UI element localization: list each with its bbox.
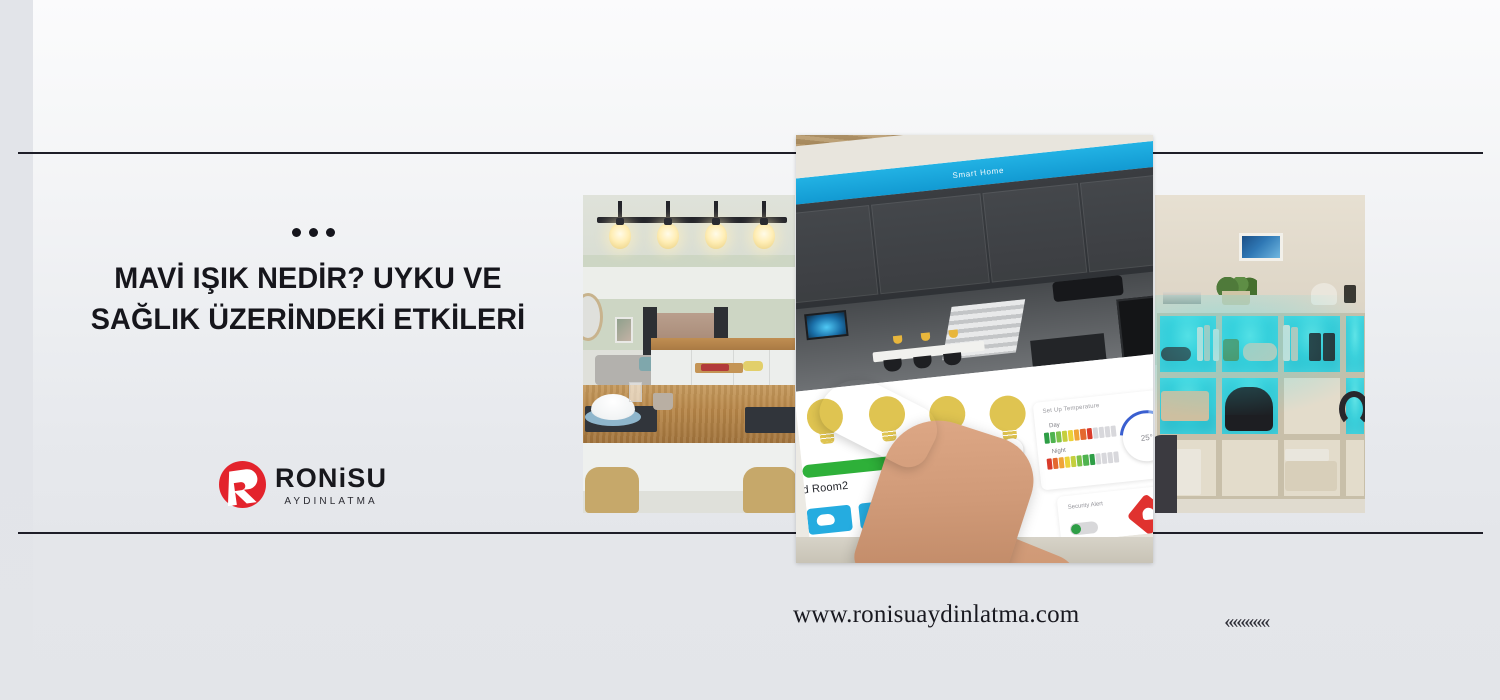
house-illustration: [796, 164, 1153, 392]
poster-canvas: MAVİ IŞIK NEDİR? UYKU VE SAĞLIK ÜZERİNDE…: [0, 0, 1500, 700]
brand-name: RONiSU: [275, 465, 387, 492]
night-label: Night: [1052, 448, 1067, 455]
dot-icon: [292, 228, 301, 237]
security-label: Security Alert: [1067, 500, 1103, 512]
dot-icon: [309, 228, 318, 237]
day-label: Day: [1049, 422, 1060, 429]
chevron-decoration-icon: ‹‹‹‹ ‹‹‹‹ ‹‹‹: [1224, 611, 1268, 632]
photo-smart-home-tablet: Smart Home: [796, 135, 1153, 563]
temperature-dial[interactable]: 25°: [1120, 411, 1153, 464]
left-edge-band: [0, 0, 33, 700]
alarm-bell-icon[interactable]: [1127, 493, 1153, 535]
website-url[interactable]: www.ronisuaydinlatma.com: [793, 601, 1079, 629]
brand-tagline: AYDINLATMA: [275, 497, 387, 507]
temperature-card-title: Set Up Temperature: [1042, 403, 1100, 415]
photo-led-backlit-shelves: [1155, 195, 1365, 513]
security-toggle[interactable]: [1069, 521, 1098, 536]
pointing-hand: [816, 385, 1016, 563]
temperature-card: Set Up Temperature Day Night: [1033, 388, 1153, 491]
dot-icon: [326, 228, 335, 237]
app-title: Smart Home: [952, 165, 1005, 179]
page-title: MAVİ IŞIK NEDİR? UYKU VE SAĞLIK ÜZERİNDE…: [68, 258, 548, 341]
photo-kitchen-pendant-lights: [583, 195, 795, 513]
divider-bottom: [18, 532, 1483, 534]
brand-logo: RONiSU AYDINLATMA: [219, 461, 387, 508]
divider-top: [18, 152, 1483, 154]
eyebrow-dots: [292, 228, 335, 237]
ronisu-mark-icon: [219, 461, 266, 508]
